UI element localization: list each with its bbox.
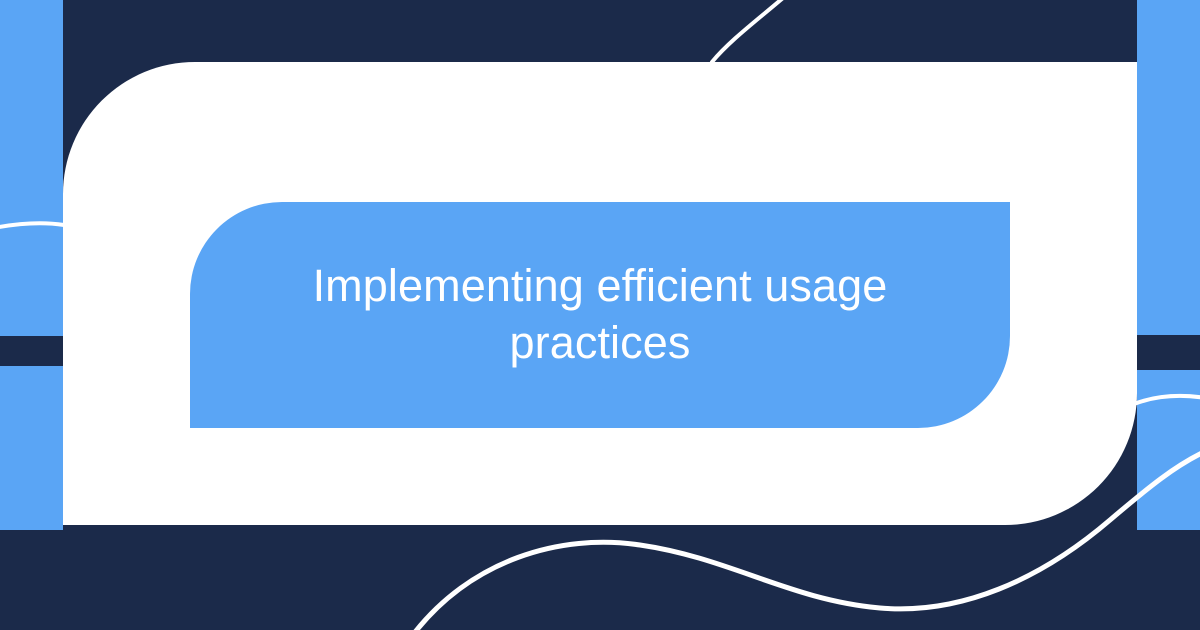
banner-stage: Implementing efficient usage practices (0, 0, 1200, 630)
left-upper-block (0, 0, 63, 336)
title-panel: Implementing efficient usage practices (190, 202, 1010, 428)
left-lower-block (0, 366, 63, 530)
right-lower-block (1137, 370, 1200, 530)
right-upper-block (1137, 0, 1200, 335)
content-card: Implementing efficient usage practices (63, 62, 1137, 525)
page-title: Implementing efficient usage practices (210, 258, 990, 371)
